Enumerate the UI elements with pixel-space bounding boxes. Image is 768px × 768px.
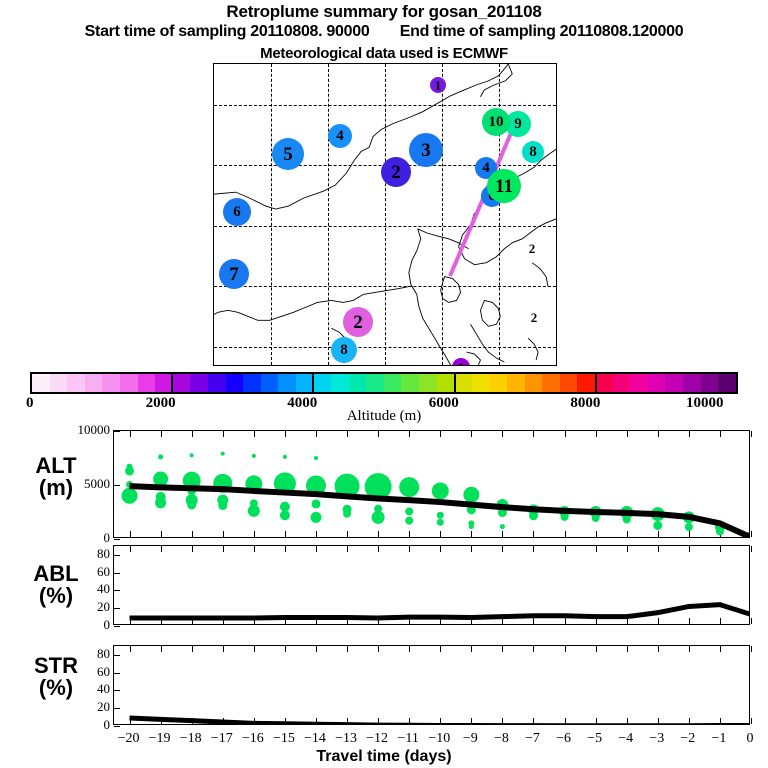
x-tick-mark-top	[751, 431, 752, 437]
abl-plot-panel	[113, 545, 750, 625]
x-tick-label: −16	[242, 731, 264, 747]
y-tick-label: 60	[97, 664, 110, 680]
map-marker-day-4: 4	[328, 124, 352, 148]
colorbar-swatch	[577, 374, 595, 392]
met-data-label: Meteorological data used is ECMWF	[0, 45, 768, 62]
scatter-point	[529, 511, 538, 520]
x-tick-label: −9	[463, 731, 478, 747]
alt-plot-panel	[113, 430, 750, 538]
scatter-point	[685, 523, 693, 531]
colorbar-swatch	[278, 374, 296, 392]
scatter-point	[311, 499, 320, 508]
x-tick-label: −19	[149, 731, 171, 747]
colorbar-swatch	[32, 374, 50, 392]
colorbar-swatch	[489, 374, 507, 392]
y-tick-mark	[114, 726, 120, 727]
scatter-point	[280, 502, 290, 512]
x-tick-label: −18	[180, 731, 202, 747]
scatter-point	[623, 516, 631, 524]
x-tick-label: −12	[366, 731, 388, 747]
y-tick-label: 20	[97, 699, 110, 715]
map-marker-day-2: 2	[526, 309, 542, 325]
x-tick-label: −20	[118, 731, 140, 747]
map-gridline-lon-3	[385, 64, 386, 365]
start-time-label: Start time of sampling 20110808. 90000	[85, 23, 370, 40]
colorbar-swatch	[120, 374, 138, 392]
str-line	[130, 718, 749, 724]
colorbar-swatch	[613, 374, 631, 392]
map-marker-day-11: 11	[487, 169, 521, 203]
scatter-point	[405, 517, 413, 525]
scatter-point	[248, 505, 260, 517]
scatter-point	[437, 519, 444, 526]
y-tick-label: 0	[104, 617, 111, 633]
colorbar-swatch	[683, 374, 701, 392]
scatter-point	[399, 477, 419, 497]
colorbar-divider	[171, 372, 173, 394]
colorbar-swatch	[472, 374, 490, 392]
map-marker-day-2: 2	[343, 307, 373, 337]
map-marker-day-5: 5	[272, 138, 304, 170]
colorbar-swatch	[718, 374, 736, 392]
altitude-colorbar	[30, 372, 738, 394]
map-gridline-lon-2	[328, 64, 329, 365]
colorbar-divider	[454, 372, 456, 394]
y-tick-mark	[114, 626, 120, 627]
x-tick-label: −11	[397, 731, 418, 747]
colorbar-divider	[595, 372, 597, 394]
x-tick-label: −4	[618, 731, 633, 747]
y-tick-label: 0	[104, 717, 111, 733]
colorbar-divider	[312, 372, 314, 394]
map-marker-day-2: 2	[525, 241, 539, 255]
x-tick-mark	[751, 618, 752, 624]
scatter-point	[561, 513, 569, 521]
y-tick-label: 0	[104, 530, 111, 546]
abl-line	[130, 605, 749, 618]
colorbar-swatch	[630, 374, 648, 392]
map-marker-day-8: 8	[522, 141, 544, 163]
x-tick-mark	[751, 718, 752, 724]
x-tick-label: −7	[525, 731, 540, 747]
colorbar-swatch	[173, 374, 191, 392]
x-tick-label: −8	[494, 731, 509, 747]
scatter-point	[283, 455, 287, 459]
retroplume-summary-figure: Retroplume summary for gosan_201108 Star…	[0, 0, 768, 768]
str-plot-panel	[113, 645, 750, 725]
scatter-point	[187, 500, 196, 509]
scatter-point	[653, 521, 662, 530]
map-marker-day-8: 8	[331, 337, 357, 363]
str-axis-label: STR (%)	[6, 655, 106, 700]
colorbar-title: Altitude (m)	[0, 408, 768, 425]
colorbar-swatch	[366, 374, 384, 392]
colorbar-swatch	[595, 374, 613, 392]
colorbar-swatch	[419, 374, 437, 392]
retroplume-map: 11222344566788910112	[213, 63, 557, 366]
colorbar-swatch	[542, 374, 560, 392]
colorbar-swatch	[437, 374, 455, 392]
colorbar-swatch	[261, 374, 279, 392]
y-tick-label: 5000	[84, 476, 110, 492]
scatter-point	[221, 452, 225, 456]
abl-data-layer	[114, 546, 749, 624]
scatter-point	[343, 510, 351, 518]
scatter-point	[432, 482, 449, 499]
y-tick-label: 10000	[78, 422, 111, 438]
map-marker-day-3: 3	[409, 133, 443, 167]
str-data-layer	[114, 646, 749, 724]
scatter-point	[405, 507, 413, 515]
x-tick-label: −15	[273, 731, 295, 747]
scatter-point	[310, 512, 321, 523]
scatter-point	[158, 454, 163, 459]
y-tick-label: 40	[97, 581, 110, 597]
colorbar-swatch	[701, 374, 719, 392]
scatter-point	[437, 512, 444, 519]
scatter-point	[125, 466, 134, 475]
colorbar-swatch	[507, 374, 525, 392]
colorbar-swatch	[560, 374, 578, 392]
map-gridline-lon-1	[271, 64, 272, 365]
map-gridline-lon-4	[442, 64, 443, 365]
scatter-point	[218, 501, 227, 510]
colorbar-swatch	[226, 374, 244, 392]
colorbar-swatch	[138, 374, 156, 392]
colorbar-swatch	[384, 374, 402, 392]
colorbar-swatch	[296, 374, 314, 392]
scatter-point	[252, 454, 256, 458]
x-tick-mark-top	[751, 646, 752, 652]
scatter-point	[500, 524, 505, 529]
y-tick-label: 60	[97, 564, 110, 580]
scatter-point	[469, 524, 474, 529]
map-marker-day-6: 6	[223, 198, 251, 226]
colorbar-swatch	[331, 374, 349, 392]
x-tick-label: −6	[556, 731, 571, 747]
scatter-point	[716, 527, 724, 535]
scatter-point	[592, 514, 600, 522]
end-time-label: End time of sampling 20110808.120000	[400, 23, 684, 40]
x-tick-label: −2	[680, 731, 695, 747]
colorbar-swatch	[314, 374, 332, 392]
x-tick-label: −10	[428, 731, 450, 747]
scatter-point	[463, 487, 479, 503]
x-tick-label: 0	[747, 731, 754, 747]
y-tick-mark	[114, 539, 120, 540]
scatter-point	[372, 511, 385, 524]
x-tick-label: −3	[649, 731, 664, 747]
x-tick-mark	[751, 531, 752, 537]
map-marker-day-2: 2	[381, 157, 411, 187]
scatter-point	[155, 497, 166, 508]
x-tick-mark-top	[751, 546, 752, 552]
page-title: Retroplume summary for gosan_201108	[0, 2, 768, 22]
x-tick-label: −17	[211, 731, 233, 747]
x-tick-label: −13	[335, 731, 357, 747]
alt-data-layer	[114, 431, 749, 537]
colorbar-swatch	[243, 374, 261, 392]
colorbar-swatch	[454, 374, 472, 392]
x-axis-title: Travel time (days)	[0, 748, 768, 766]
colorbar-swatch	[401, 374, 419, 392]
map-marker-day-7: 7	[219, 259, 249, 289]
scatter-point	[314, 456, 318, 460]
colorbar-swatch	[67, 374, 85, 392]
map-marker-day-10: 10	[482, 108, 510, 136]
y-tick-label: 40	[97, 681, 110, 697]
colorbar-swatch	[648, 374, 666, 392]
map-marker-day-1: 1	[430, 77, 446, 93]
y-tick-label: 80	[97, 546, 110, 562]
scatter-point	[280, 510, 290, 520]
colorbar-swatch	[665, 374, 683, 392]
colorbar-swatch	[190, 374, 208, 392]
x-tick-label: −5	[587, 731, 602, 747]
scatter-point	[190, 453, 194, 457]
colorbar-swatch	[50, 374, 68, 392]
x-tick-label: −1	[711, 731, 726, 747]
colorbar-swatch	[85, 374, 103, 392]
colorbar-swatch	[349, 374, 367, 392]
colorbar-swatch	[102, 374, 120, 392]
y-tick-label: 20	[97, 599, 110, 615]
x-tick-label: −14	[304, 731, 326, 747]
colorbar-swatch	[208, 374, 226, 392]
sampling-time-line: Start time of sampling 20110808. 90000 E…	[0, 23, 768, 41]
scatter-point	[122, 488, 138, 504]
abl-axis-label: ABL (%)	[6, 563, 106, 608]
colorbar-swatch	[525, 374, 543, 392]
y-tick-label: 80	[97, 646, 110, 662]
